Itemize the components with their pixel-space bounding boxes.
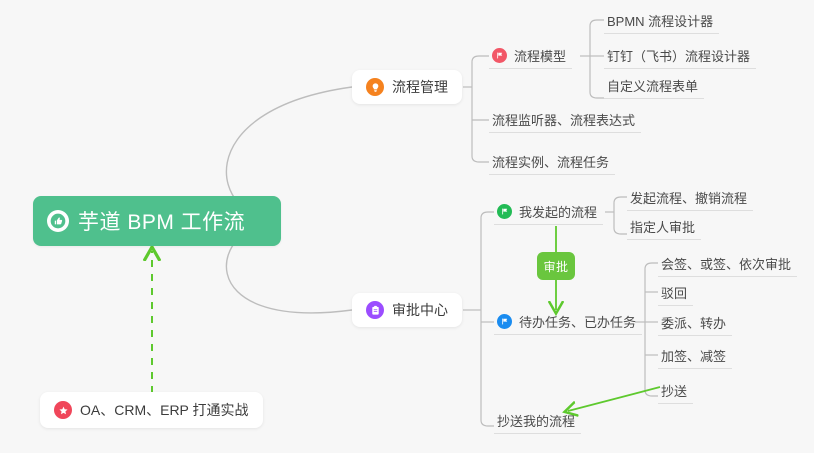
node-label-dingtalk-feishu-designer: 钉钉（飞书）流程设计器 bbox=[607, 46, 750, 65]
node-label-custom-process-form: 自定义流程表单 bbox=[607, 76, 698, 95]
cc-flow-arrow bbox=[568, 387, 660, 411]
node-label-cc: 抄送 bbox=[661, 381, 687, 400]
branch-card-process-management[interactable]: 流程管理 bbox=[352, 70, 462, 104]
node-add-remove-sign[interactable]: 加签、减签 bbox=[658, 343, 732, 369]
node-label-bpmn-designer: BPMN 流程设计器 bbox=[607, 11, 713, 30]
bottom-note-label: OA、CRM、ERP 打通实战 bbox=[80, 400, 249, 420]
node-process-instance-task[interactable]: 流程实例、流程任务 bbox=[489, 149, 615, 175]
node-bpmn-designer[interactable]: BPMN 流程设计器 bbox=[604, 8, 719, 34]
root-label: 芋道 BPM 工作流 bbox=[78, 206, 245, 236]
node-label-my-initiated-process: 我发起的流程 bbox=[519, 202, 597, 221]
node-label-countersign-or-sequential: 会签、或签、依次审批 bbox=[661, 254, 791, 273]
mindmap-canvas: 芋道 BPM 工作流 流程管理 审批中心 bbox=[0, 0, 814, 453]
node-label-process-model: 流程模型 bbox=[514, 46, 566, 65]
node-custom-process-form[interactable]: 自定义流程表单 bbox=[604, 73, 704, 99]
node-delegate-transfer[interactable]: 委派、转办 bbox=[658, 310, 732, 336]
node-reject[interactable]: 驳回 bbox=[658, 280, 693, 306]
branch-label-process-management: 流程管理 bbox=[392, 77, 448, 97]
node-assignee-approval[interactable]: 指定人审批 bbox=[627, 214, 701, 240]
node-cc[interactable]: 抄送 bbox=[658, 378, 693, 404]
lightbulb-icon bbox=[366, 78, 384, 96]
branch-label-approval-center: 审批中心 bbox=[392, 300, 448, 320]
flag-icon bbox=[497, 204, 512, 219]
node-process-listener-expression[interactable]: 流程监听器、流程表达式 bbox=[489, 107, 641, 133]
clipboard-icon bbox=[366, 301, 384, 319]
node-label-add-remove-sign: 加签、减签 bbox=[661, 346, 726, 365]
node-my-initiated-process[interactable]: 我发起的流程 bbox=[494, 199, 603, 225]
flag-icon bbox=[497, 314, 512, 329]
star-icon bbox=[54, 401, 72, 419]
node-label-delegate-transfer: 委派、转办 bbox=[661, 313, 726, 332]
node-process-model[interactable]: 流程模型 bbox=[489, 43, 572, 69]
node-label-process-listener-expression: 流程监听器、流程表达式 bbox=[492, 110, 635, 129]
flag-icon bbox=[492, 48, 507, 63]
node-label-assignee-approval: 指定人审批 bbox=[630, 217, 695, 236]
branch-card-approval-center[interactable]: 审批中心 bbox=[352, 293, 462, 327]
approve-badge: 审批 bbox=[537, 252, 575, 280]
node-start-cancel-process[interactable]: 发起流程、撤销流程 bbox=[627, 185, 753, 211]
node-todo-done-tasks[interactable]: 待办任务、已办任务 bbox=[494, 309, 642, 335]
node-countersign-or-sequential[interactable]: 会签、或签、依次审批 bbox=[658, 251, 797, 277]
node-label-reject: 驳回 bbox=[661, 283, 687, 302]
node-label-start-cancel-process: 发起流程、撤销流程 bbox=[630, 188, 747, 207]
node-label-cc-to-me-process: 抄送我的流程 bbox=[497, 411, 575, 430]
node-label-process-instance-task: 流程实例、流程任务 bbox=[492, 152, 609, 171]
node-cc-to-me-process[interactable]: 抄送我的流程 bbox=[494, 408, 581, 434]
thumbs-up-icon bbox=[47, 210, 69, 232]
node-dingtalk-feishu-designer[interactable]: 钉钉（飞书）流程设计器 bbox=[604, 43, 756, 69]
node-label-todo-done-tasks: 待办任务、已办任务 bbox=[519, 312, 636, 331]
root-node[interactable]: 芋道 BPM 工作流 bbox=[33, 196, 281, 246]
bottom-note-card[interactable]: OA、CRM、ERP 打通实战 bbox=[40, 392, 263, 428]
